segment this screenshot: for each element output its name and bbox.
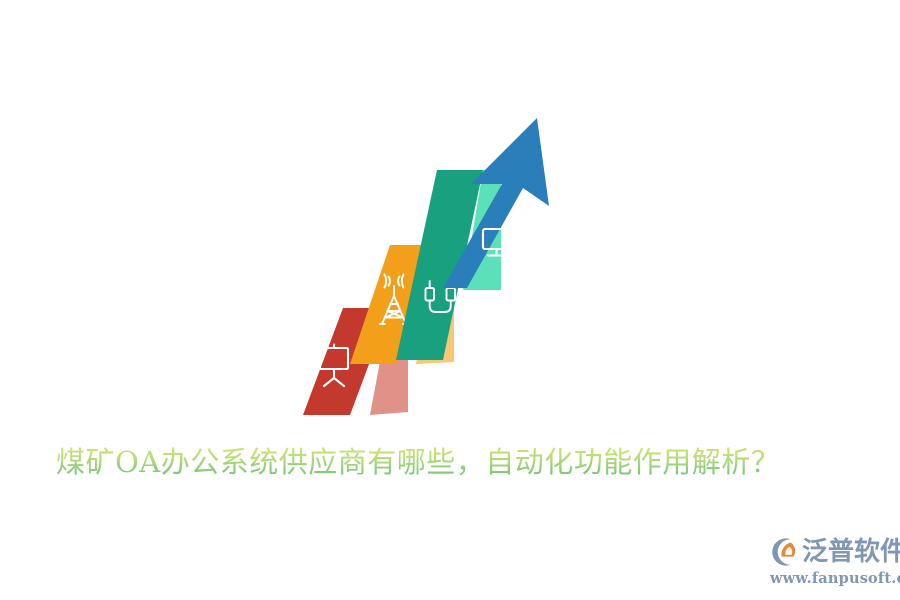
page-canvas: 煤矿OA办公系统供应商有哪些，自动化功能作用解析？ 泛普软件 www.fanpu… <box>0 0 900 600</box>
brand-url: www.fanpusoft.com <box>770 570 896 587</box>
brand-name: 泛普软件 <box>802 535 900 569</box>
brand-row: 泛普软件 <box>766 534 896 570</box>
fanpu-logo-icon <box>766 535 800 569</box>
page-title: 煤矿OA办公系统供应商有哪些，自动化功能作用解析？ <box>56 441 856 483</box>
brand-watermark: 泛普软件 www.fanpusoft.com <box>766 534 896 592</box>
ascending-arrow-infographic <box>290 110 560 425</box>
